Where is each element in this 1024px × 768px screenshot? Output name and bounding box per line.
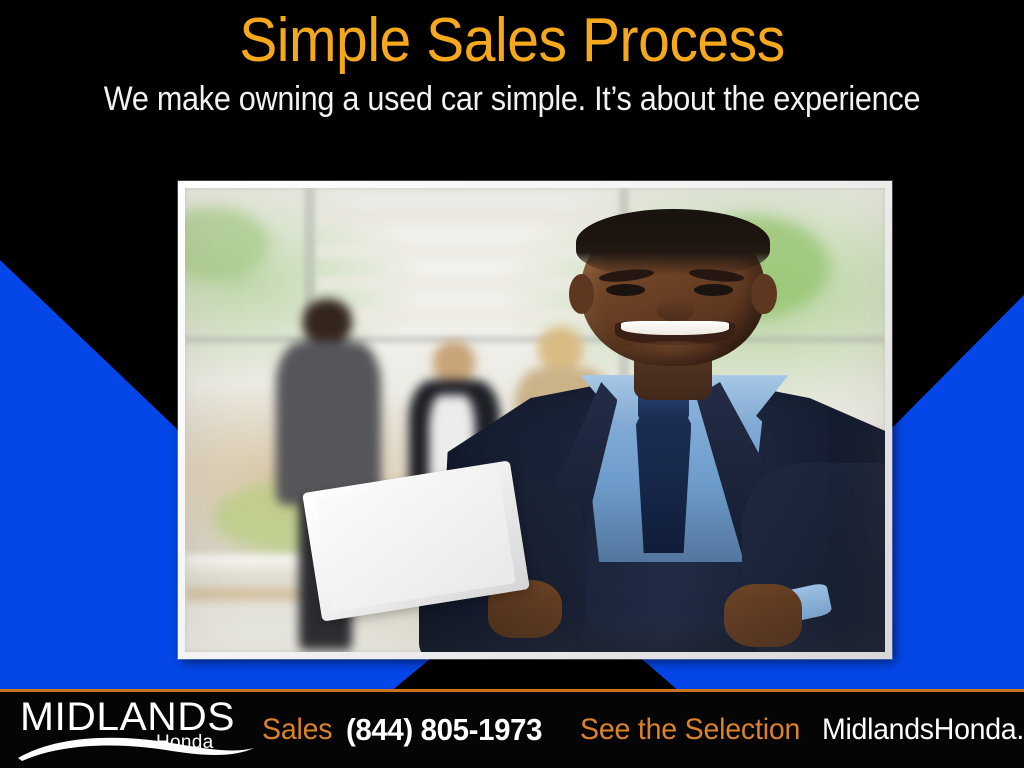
midlands-honda-logo[interactable]: MIDLANDS Honda <box>16 696 266 762</box>
page-subtitle: We make owning a used car simple. It’s a… <box>51 80 973 118</box>
eye <box>606 284 645 296</box>
chin <box>613 341 733 368</box>
header-band: Simple Sales Process We make owning a us… <box>0 0 1024 150</box>
sales-label: Sales <box>262 713 332 747</box>
slide-canvas: Simple Sales Process We make owning a us… <box>0 0 1024 768</box>
necktie <box>636 400 691 553</box>
photo-frame <box>178 181 892 659</box>
hero-photo <box>185 188 885 652</box>
sales-phone[interactable]: (844) 805-1973 <box>346 713 542 747</box>
ear <box>751 274 776 315</box>
honda-swoosh-icon <box>16 730 266 764</box>
hair <box>576 209 770 277</box>
eye <box>694 284 733 296</box>
page-title: Simple Sales Process <box>41 8 983 74</box>
nose <box>657 299 694 322</box>
see-the-selection-label[interactable]: See the Selection <box>580 713 800 747</box>
footer-bar: MIDLANDS Honda Sales (844) 805-1973 See … <box>0 692 1024 768</box>
right-hand <box>724 584 803 647</box>
website-url[interactable]: MidlandsHonda.com <box>822 713 1024 747</box>
footer-contact-links: Sales (844) 805-1973 See the Selection M… <box>262 708 1024 752</box>
